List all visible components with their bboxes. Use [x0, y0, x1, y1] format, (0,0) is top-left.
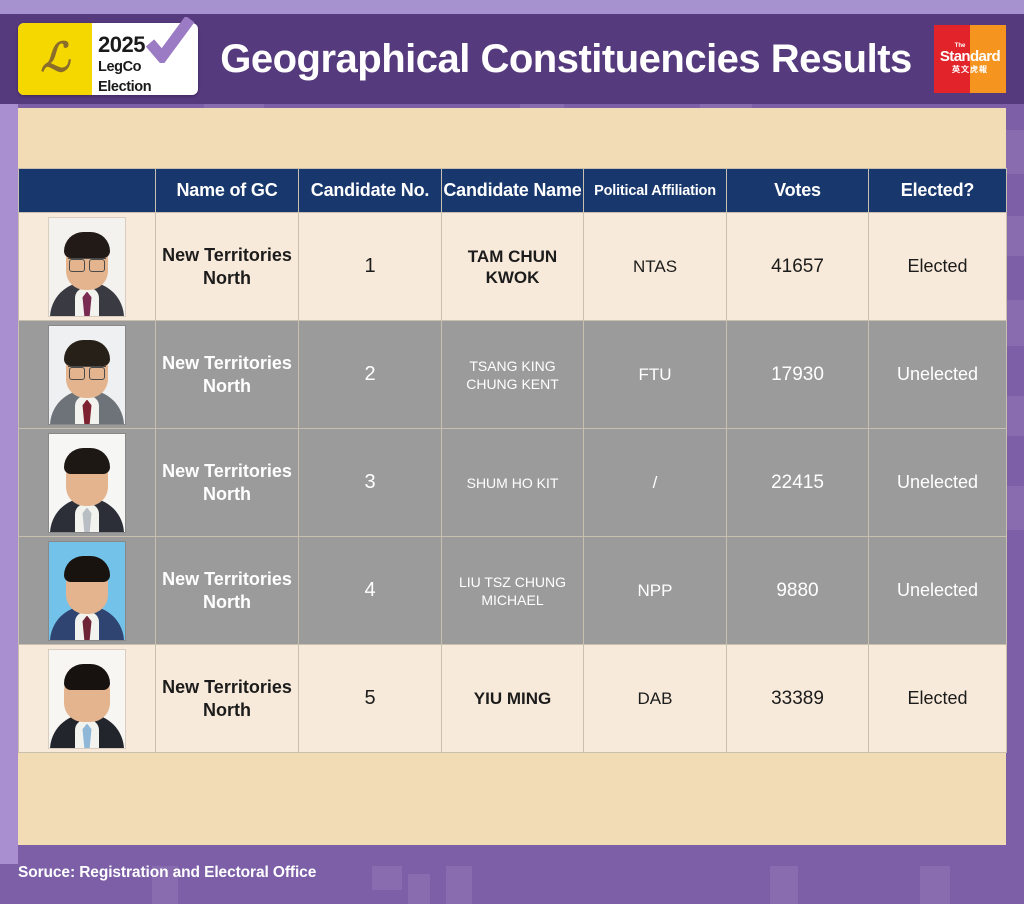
cell-political-affiliation: NPP — [584, 537, 727, 645]
cell-elected: Unelected — [869, 321, 1007, 429]
column-header-votes: Votes — [727, 169, 869, 213]
cell-candidate-name: TSANG KING CHUNG KENT — [442, 321, 584, 429]
cell-photo — [19, 213, 156, 321]
candidate-photo — [48, 433, 126, 533]
table-row: New Territories North 2 TSANG KING CHUNG… — [19, 321, 1007, 429]
logo-chinese-label: 英文虎報 — [952, 65, 988, 75]
column-header-candidate-name: Candidate Name — [442, 169, 584, 213]
cell-name-of-gc: New Territories North — [156, 321, 299, 429]
cell-candidate-name: TAM CHUN KWOK — [442, 213, 584, 321]
cell-elected: Unelected — [869, 537, 1007, 645]
cell-candidate-no: 4 — [299, 537, 442, 645]
cell-candidate-no: 3 — [299, 429, 442, 537]
cell-votes: 41657 — [727, 213, 869, 321]
legco-emblem-icon: ℒ — [28, 35, 82, 83]
legco-election-logo: ℒ 2025 LegCo Election — [18, 23, 198, 95]
cell-political-affiliation: NTAS — [584, 213, 727, 321]
table-row: New Territories North 4 LIU TSZ CHUNG MI… — [19, 537, 1007, 645]
panel-bottom-spacer — [18, 753, 1006, 845]
top-accent-strip — [0, 0, 1024, 14]
the-standard-logo: The Standard 英文虎報 — [934, 25, 1006, 93]
column-header-photo — [19, 169, 156, 213]
table-header-row: Name of GC Candidate No. Candidate Name … — [19, 169, 1007, 213]
cell-political-affiliation: / — [584, 429, 727, 537]
logo-standard-label: Standard — [940, 49, 1000, 65]
cell-candidate-no: 5 — [299, 645, 442, 753]
infographic-page: ℒ 2025 LegCo Election Geographical Const… — [0, 0, 1024, 904]
column-header-elected: Elected? — [869, 169, 1007, 213]
page-header: ℒ 2025 LegCo Election Geographical Const… — [0, 14, 1024, 104]
cell-votes: 9880 — [727, 537, 869, 645]
page-title: Geographical Constituencies Results — [204, 37, 928, 82]
column-header-name-of-gc: Name of GC — [156, 169, 299, 213]
cell-votes: 17930 — [727, 321, 869, 429]
cell-political-affiliation: DAB — [584, 645, 727, 753]
cell-name-of-gc: New Territories North — [156, 429, 299, 537]
cell-candidate-name: SHUM HO KIT — [442, 429, 584, 537]
table-row: New Territories North 5 YIU MING DAB 333… — [19, 645, 1007, 753]
table-head: Name of GC Candidate No. Candidate Name … — [19, 169, 1007, 213]
cell-candidate-no: 2 — [299, 321, 442, 429]
cell-political-affiliation: FTU — [584, 321, 727, 429]
table-body: New Territories North 1 TAM CHUN KWOK NT… — [19, 213, 1007, 753]
candidate-photo — [48, 217, 126, 317]
panel-top-spacer — [18, 108, 1006, 168]
cell-photo — [19, 429, 156, 537]
cell-name-of-gc: New Territories North — [156, 213, 299, 321]
candidate-photo — [48, 541, 126, 641]
table-row: New Territories North 1 TAM CHUN KWOK NT… — [19, 213, 1007, 321]
cell-elected: Elected — [869, 213, 1007, 321]
cell-photo — [19, 645, 156, 753]
candidate-photo — [48, 649, 126, 749]
source-attribution: Soruce: Registration and Electoral Offic… — [18, 864, 316, 882]
table-row: New Territories North 3 SHUM HO KIT / 22… — [19, 429, 1007, 537]
candidate-photo — [48, 325, 126, 425]
column-header-candidate-no: Candidate No. — [299, 169, 442, 213]
cell-photo — [19, 537, 156, 645]
results-panel: Name of GC Candidate No. Candidate Name … — [18, 108, 1006, 845]
cell-name-of-gc: New Territories North — [156, 645, 299, 753]
cell-votes: 33389 — [727, 645, 869, 753]
glasses-icon — [68, 258, 106, 270]
cell-elected: Elected — [869, 645, 1007, 753]
cell-name-of-gc: New Territories North — [156, 537, 299, 645]
column-header-political-affiliation: Political Affiliation — [584, 169, 727, 213]
cell-votes: 22415 — [727, 429, 869, 537]
logo-wordmark: The Standard 英文虎報 — [934, 25, 1006, 93]
cell-candidate-name: LIU TSZ CHUNG MICHAEL — [442, 537, 584, 645]
results-table: Name of GC Candidate No. Candidate Name … — [18, 168, 1007, 753]
cell-candidate-no: 1 — [299, 213, 442, 321]
logo-subtitle: LegCo Election — [98, 57, 196, 97]
cell-photo — [19, 321, 156, 429]
purple-checkmark-icon — [146, 17, 194, 63]
glasses-icon — [68, 366, 106, 378]
cell-candidate-name: YIU MING — [442, 645, 584, 753]
cell-elected: Unelected — [869, 429, 1007, 537]
left-accent-strip — [0, 104, 18, 864]
